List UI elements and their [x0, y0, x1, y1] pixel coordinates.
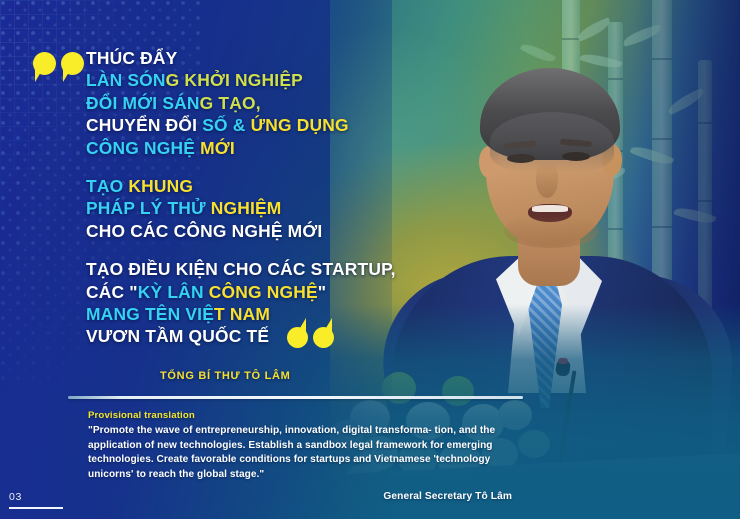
quote-segment: CÔNG NGHỆ	[86, 138, 200, 158]
quote-line: MANG TÊN VIỆT NAM	[86, 303, 386, 325]
chin-shadow	[504, 214, 598, 248]
quote-line: CHUYỂN ĐỔI SỐ & ỨNG DỤNG	[86, 114, 386, 136]
quote-segment: CÔNG NGHỆ	[209, 282, 318, 302]
translation-body: "Promote the wave of entrepreneurship, i…	[88, 424, 518, 482]
translation-title: Provisional translation	[88, 410, 518, 421]
quote-segment: "	[318, 282, 326, 302]
quote-segment: VƯƠN TẦM QUỐC TẾ	[86, 326, 269, 346]
quote-line: TẠO KHUNG	[86, 175, 386, 197]
eye-right	[562, 152, 590, 161]
spacer	[86, 242, 386, 258]
quote-line: CÁC "KỲ LÂN CÔNG NGHỆ"	[86, 281, 386, 303]
eye-left	[507, 154, 535, 163]
flower	[518, 430, 550, 458]
quote-block-2: TẠO KHUNG PHÁP LÝ THỬ NGHIỆM CHO CÁC CÔN…	[86, 175, 386, 242]
quote-segment: LÀN SÓN	[86, 70, 166, 90]
quote-segment: THÚC ĐẨY	[86, 48, 177, 68]
flower	[442, 376, 474, 406]
page-number-rule	[9, 507, 63, 509]
quote-segment: PHÁP LÝ THỬ	[86, 198, 211, 218]
quote-segment: KỲ LÂN	[138, 282, 209, 302]
quote-segment: CHUYỂN ĐỔI	[86, 115, 202, 135]
quote-line: VƯƠN TẦM QUỐC TẾ	[86, 325, 386, 347]
quote-segment: NGHIỆM	[211, 198, 282, 218]
quote-attribution: TỔNG BÍ THƯ TÔ LÂM	[160, 370, 291, 382]
quote-line: PHÁP LÝ THỬ NGHIỆM	[86, 197, 386, 219]
quote-line: CÔNG NGHỆ MỚI	[86, 137, 386, 159]
quote-segment: MỚI	[200, 138, 235, 158]
quote-segment: TẠO	[86, 176, 128, 196]
quote-line: LÀN SÓNG KHỞI NGHIỆP	[86, 69, 386, 91]
page-number: 03	[9, 491, 22, 503]
quote-segment: G TẠO,	[200, 93, 261, 113]
quote-segment: KHUNG	[128, 176, 193, 196]
quote-block-3: TẠO ĐIỀU KIỆN CHO CÁC STARTUP, CÁC "KỲ L…	[86, 258, 386, 348]
quote-text: THÚC ĐẨY LÀN SÓNG KHỞI NGHIỆP ĐỔI MỚI SÁ…	[86, 47, 386, 348]
quote-segment: SỐ &	[202, 115, 250, 135]
quote-segment: TẠO ĐIỀU KIỆN CHO CÁC STARTUP,	[86, 259, 396, 279]
quote-segment: G KHỞI NGHIỆP	[166, 70, 303, 90]
hair	[480, 68, 620, 160]
quote-block-1: THÚC ĐẨY LÀN SÓNG KHỞI NGHIỆP ĐỔI MỚI SÁ…	[86, 47, 386, 159]
nose	[536, 162, 558, 198]
quote-segment: ĐỔI MỚI SÁN	[86, 93, 200, 113]
quote-segment: ỨNG DỤNG	[251, 115, 349, 135]
quote-open-icon	[33, 52, 89, 80]
quote-line: TẠO ĐIỀU KIỆN CHO CÁC STARTUP,	[86, 258, 386, 280]
quote-line: CHO CÁC CÔNG NGHỆ MỚI	[86, 220, 386, 242]
quote-segment: CÁC "	[86, 282, 138, 302]
quote-line: ĐỔI MỚI SÁNG TẠO,	[86, 92, 386, 114]
spacer	[86, 159, 386, 175]
quote-segment: MANG TÊN VIỆ	[86, 304, 214, 324]
translation-block: Provisional translation "Promote the wav…	[88, 410, 518, 502]
section-divider	[68, 396, 523, 399]
translation-signature: General Secretary Tô Lâm	[88, 491, 518, 502]
quote-segment: T NAM	[214, 304, 270, 324]
quote-segment: CHO CÁC CÔNG NGHỆ MỚI	[86, 221, 322, 241]
slide-canvas: THÚC ĐẨY LÀN SÓNG KHỞI NGHIỆP ĐỔI MỚI SÁ…	[0, 0, 740, 519]
quote-line: THÚC ĐẨY	[86, 47, 386, 69]
